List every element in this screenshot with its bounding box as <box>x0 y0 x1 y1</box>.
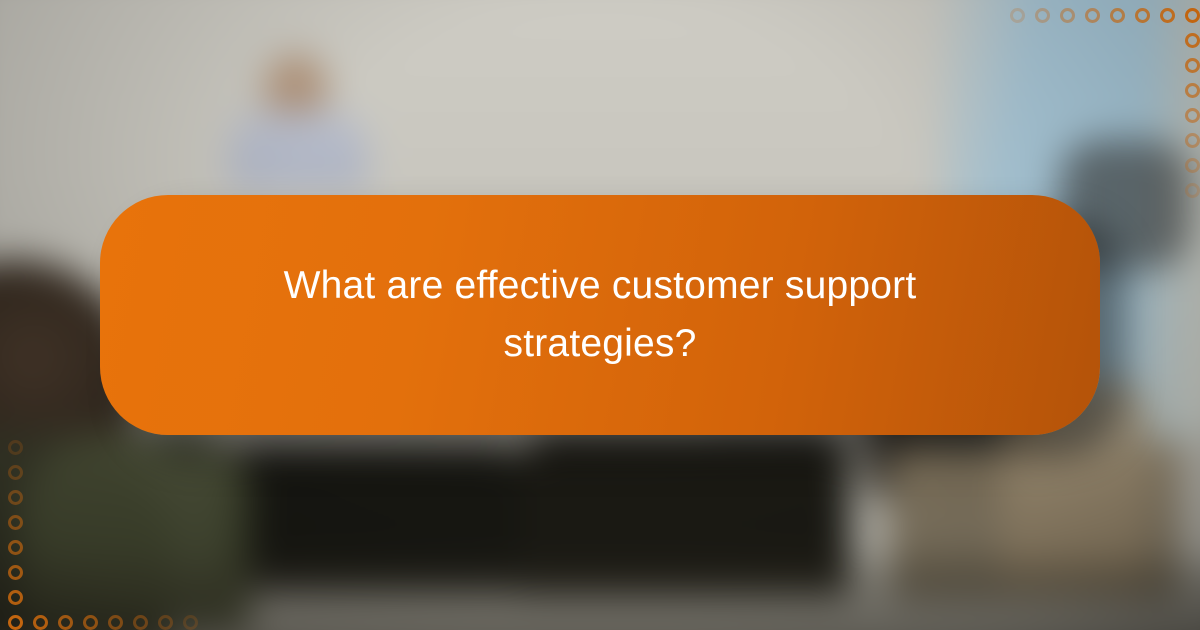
decorative-dot <box>108 615 123 630</box>
decorative-dot <box>8 565 23 580</box>
decorative-dot <box>1185 133 1200 148</box>
decorative-dot <box>1085 8 1100 23</box>
decorative-dot <box>8 540 23 555</box>
decorative-dot <box>1185 158 1200 173</box>
decorative-dot <box>1185 83 1200 98</box>
card-title: What are effective customer support stra… <box>260 257 940 373</box>
decorative-dot <box>183 615 198 630</box>
decorative-dot <box>8 515 23 530</box>
decorative-dot <box>1185 33 1200 48</box>
decorative-dot <box>58 615 73 630</box>
decorative-dot <box>8 440 23 455</box>
decorative-dot <box>1160 8 1175 23</box>
decorative-dot <box>1185 58 1200 73</box>
decorative-dot <box>1035 8 1050 23</box>
decorative-dot <box>1010 8 1025 23</box>
graphic-canvas: What are effective customer support stra… <box>0 0 1200 630</box>
decorative-dot <box>8 490 23 505</box>
decorative-dot <box>158 615 173 630</box>
decorative-dot <box>8 465 23 480</box>
decorative-dot <box>8 615 23 630</box>
decorative-dot <box>133 615 148 630</box>
decorative-dot <box>1185 108 1200 123</box>
decorative-dot <box>8 590 23 605</box>
dot-pattern-bottom-left <box>0 415 210 630</box>
decorative-dot <box>1185 183 1200 198</box>
headline-card: What are effective customer support stra… <box>100 195 1100 435</box>
decorative-dot <box>1135 8 1150 23</box>
decorative-dot <box>83 615 98 630</box>
decorative-dot <box>1110 8 1125 23</box>
decorative-dot <box>33 615 48 630</box>
decorative-dot <box>1060 8 1075 23</box>
dot-pattern-top-right <box>990 0 1200 215</box>
decorative-dot <box>1185 8 1200 23</box>
